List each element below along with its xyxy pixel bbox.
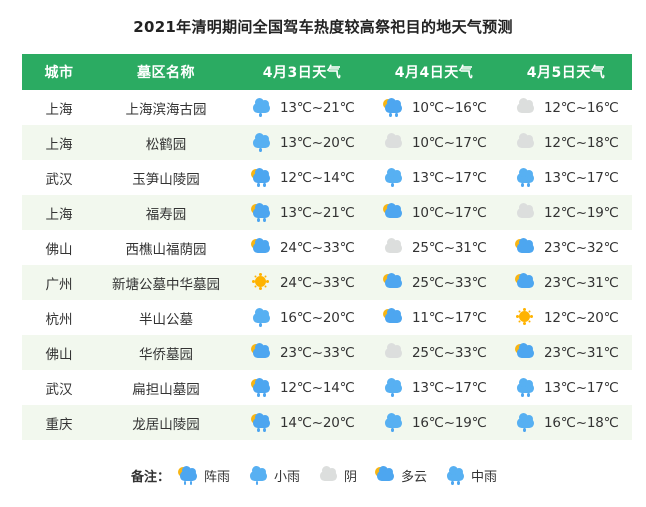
apr4-weather-temperature: 10℃~16℃ (412, 100, 487, 116)
apr4-weather-temperature: 13℃~17℃ (412, 380, 487, 396)
legend-item-label: 中雨 (471, 466, 497, 485)
cell-cemetery-name: 新塘公墓中华墓园 (96, 265, 236, 300)
cell-city: 广州 (22, 265, 96, 300)
apr5-weather-temperature: 13℃~17℃ (544, 380, 619, 396)
table-row: 上海松鹤园13℃~20℃10℃~17℃12℃~18℃ (22, 125, 632, 160)
overcast-icon (515, 99, 537, 117)
apr3-weather-content: 24℃~33℃ (237, 274, 367, 292)
apr4-weather-cell: 13℃~17℃ (368, 370, 500, 405)
overcast-icon (383, 134, 405, 152)
shower-icon (251, 169, 273, 187)
apr4-weather-content: 11℃~17℃ (369, 309, 499, 327)
apr3-weather-content: 16℃~20℃ (237, 309, 367, 327)
apr4-weather-cell: 16℃~19℃ (368, 405, 500, 440)
apr3-weather-cell: 12℃~14℃ (236, 160, 368, 195)
column-header-apr4: 4月4日天气 (368, 54, 500, 90)
legend-item: 阴 (318, 466, 357, 485)
apr5-weather-temperature: 12℃~16℃ (544, 100, 619, 116)
apr5-weather-content: 23℃~31℃ (501, 344, 631, 362)
shower-icon (251, 379, 273, 397)
apr5-weather-temperature: 23℃~31℃ (544, 345, 619, 361)
cell-city: 上海 (22, 90, 96, 125)
light-rain-icon (515, 414, 537, 432)
apr3-weather-content: 13℃~20℃ (237, 134, 367, 152)
apr4-weather-cell: 25℃~33℃ (368, 335, 500, 370)
cell-cemetery-name: 福寿园 (96, 195, 236, 230)
column-header-cemetery: 墓区名称 (96, 54, 236, 90)
table-row: 武汉扁担山墓园12℃~14℃13℃~17℃13℃~17℃ (22, 370, 632, 405)
table-row: 杭州半山公墓16℃~20℃11℃~17℃12℃~20℃ (22, 300, 632, 335)
apr5-weather-temperature: 12℃~20℃ (544, 310, 619, 326)
apr3-weather-temperature: 24℃~33℃ (280, 240, 355, 256)
apr4-weather-content: 10℃~17℃ (369, 134, 499, 152)
cloudy-icon (383, 204, 405, 222)
cloudy-icon (375, 467, 397, 485)
cell-cemetery-name: 松鹤园 (96, 125, 236, 160)
apr5-weather-content: 13℃~17℃ (501, 379, 631, 397)
apr5-weather-cell: 23℃~32℃ (500, 230, 632, 265)
apr3-weather-cell: 14℃~20℃ (236, 405, 368, 440)
apr5-weather-cell: 12℃~16℃ (500, 90, 632, 125)
cell-cemetery-name: 扁担山墓园 (96, 370, 236, 405)
cell-city: 武汉 (22, 160, 96, 195)
apr4-weather-temperature: 25℃~33℃ (412, 275, 487, 291)
apr4-weather-temperature: 13℃~17℃ (412, 170, 487, 186)
apr3-weather-cell: 12℃~14℃ (236, 370, 368, 405)
legend-item-label: 阵雨 (204, 466, 230, 485)
table-body: 上海上海滨海古园13℃~21℃10℃~16℃12℃~16℃上海松鹤园13℃~20… (22, 90, 632, 440)
apr4-weather-content: 10℃~17℃ (369, 204, 499, 222)
shower-icon (251, 414, 273, 432)
apr3-weather-cell: 23℃~33℃ (236, 335, 368, 370)
light-rain-icon (248, 467, 270, 485)
apr4-weather-content: 25℃~33℃ (369, 344, 499, 362)
cloudy-icon (383, 274, 405, 292)
legend: 备注： 阵雨小雨阴多云中雨 (0, 466, 646, 485)
apr5-weather-cell: 23℃~31℃ (500, 265, 632, 300)
table-row: 武汉玉笋山陵园12℃~14℃13℃~17℃13℃~17℃ (22, 160, 632, 195)
apr5-weather-temperature: 12℃~19℃ (544, 205, 619, 221)
apr3-weather-temperature: 14℃~20℃ (280, 415, 355, 431)
apr4-weather-temperature: 10℃~17℃ (412, 135, 487, 151)
apr4-weather-content: 25℃~33℃ (369, 274, 499, 292)
legend-item: 中雨 (445, 466, 497, 485)
legend-item-label: 阴 (344, 466, 357, 485)
apr3-weather-content: 23℃~33℃ (237, 344, 367, 362)
overcast-icon (318, 467, 340, 485)
apr5-weather-content: 12℃~20℃ (501, 309, 631, 327)
cell-city: 上海 (22, 195, 96, 230)
moderate-rain-icon (445, 467, 467, 485)
apr4-weather-temperature: 11℃~17℃ (412, 310, 487, 326)
apr5-weather-cell: 12℃~20℃ (500, 300, 632, 335)
cell-cemetery-name: 西樵山福荫园 (96, 230, 236, 265)
apr3-weather-cell: 16℃~20℃ (236, 300, 368, 335)
apr5-weather-content: 12℃~16℃ (501, 99, 631, 117)
table-row: 广州新塘公墓中华墓园24℃~33℃25℃~33℃23℃~31℃ (22, 265, 632, 300)
apr5-weather-cell: 12℃~18℃ (500, 125, 632, 160)
apr5-weather-content: 13℃~17℃ (501, 169, 631, 187)
table-header-row: 城市 墓区名称 4月3日天气 4月4日天气 4月5日天气 (22, 54, 632, 90)
apr3-weather-temperature: 12℃~14℃ (280, 170, 355, 186)
apr5-weather-temperature: 23℃~31℃ (544, 275, 619, 291)
apr3-weather-content: 12℃~14℃ (237, 379, 367, 397)
shower-icon (251, 204, 273, 222)
cloudy-icon (383, 309, 405, 327)
apr4-weather-content: 10℃~16℃ (369, 99, 499, 117)
cell-city: 武汉 (22, 370, 96, 405)
apr3-weather-temperature: 24℃~33℃ (280, 275, 355, 291)
legend-item: 小雨 (248, 466, 300, 485)
apr4-weather-temperature: 16℃~19℃ (412, 415, 487, 431)
column-header-apr3: 4月3日天气 (236, 54, 368, 90)
table-row: 佛山西樵山福荫园24℃~33℃25℃~31℃23℃~32℃ (22, 230, 632, 265)
cell-city: 上海 (22, 125, 96, 160)
apr4-weather-cell: 13℃~17℃ (368, 160, 500, 195)
legend-item-label: 小雨 (274, 466, 300, 485)
table-header: 城市 墓区名称 4月3日天气 4月4日天气 4月5日天气 (22, 54, 632, 90)
overcast-icon (515, 134, 537, 152)
apr3-weather-cell: 24℃~33℃ (236, 230, 368, 265)
light-rain-icon (251, 134, 273, 152)
apr5-weather-content: 16℃~18℃ (501, 414, 631, 432)
page-title: 2021年清明期间全国驾车热度较高祭祀目的地天气预测 (0, 0, 646, 37)
apr3-weather-temperature: 13℃~20℃ (280, 135, 355, 151)
overcast-icon (383, 239, 405, 257)
apr5-weather-temperature: 13℃~17℃ (544, 170, 619, 186)
cloudy-icon (515, 274, 537, 292)
legend-item-label: 多云 (401, 466, 427, 485)
apr3-weather-content: 14℃~20℃ (237, 414, 367, 432)
apr4-weather-content: 25℃~31℃ (369, 239, 499, 257)
apr3-weather-cell: 24℃~33℃ (236, 265, 368, 300)
apr5-weather-temperature: 12℃~18℃ (544, 135, 619, 151)
apr5-weather-cell: 16℃~18℃ (500, 405, 632, 440)
apr4-weather-cell: 10℃~16℃ (368, 90, 500, 125)
apr3-weather-temperature: 23℃~33℃ (280, 345, 355, 361)
apr3-weather-temperature: 12℃~14℃ (280, 380, 355, 396)
light-rain-icon (383, 169, 405, 187)
forecast-table: 城市 墓区名称 4月3日天气 4月4日天气 4月5日天气 上海上海滨海古园13℃… (22, 54, 632, 440)
apr3-weather-cell: 13℃~21℃ (236, 195, 368, 230)
cell-cemetery-name: 龙居山陵园 (96, 405, 236, 440)
apr3-weather-content: 24℃~33℃ (237, 239, 367, 257)
legend-label: 备注： (131, 466, 170, 485)
column-header-city: 城市 (22, 54, 96, 90)
cell-city: 佛山 (22, 335, 96, 370)
apr4-weather-cell: 25℃~31℃ (368, 230, 500, 265)
apr4-weather-content: 13℃~17℃ (369, 379, 499, 397)
apr3-weather-temperature: 16℃~20℃ (280, 310, 355, 326)
apr5-weather-temperature: 23℃~32℃ (544, 240, 619, 256)
weather-forecast-page: 2021年清明期间全国驾车热度较高祭祀目的地天气预测 城市 墓区名称 4月3日天… (0, 0, 646, 507)
forecast-table-wrapper: 城市 墓区名称 4月3日天气 4月4日天气 4月5日天气 上海上海滨海古园13℃… (22, 54, 624, 440)
apr3-weather-temperature: 13℃~21℃ (280, 100, 355, 116)
apr3-weather-content: 13℃~21℃ (237, 99, 367, 117)
apr5-weather-cell: 13℃~17℃ (500, 370, 632, 405)
shower-icon (383, 99, 405, 117)
cloudy-icon (251, 344, 273, 362)
shower-icon (178, 467, 200, 485)
apr4-weather-temperature: 25℃~33℃ (412, 345, 487, 361)
apr4-weather-content: 13℃~17℃ (369, 169, 499, 187)
apr3-weather-cell: 13℃~20℃ (236, 125, 368, 160)
apr4-weather-cell: 25℃~33℃ (368, 265, 500, 300)
apr5-weather-content: 23℃~31℃ (501, 274, 631, 292)
apr4-weather-cell: 10℃~17℃ (368, 125, 500, 160)
cell-cemetery-name: 半山公墓 (96, 300, 236, 335)
cell-cemetery-name: 上海滨海古园 (96, 90, 236, 125)
table-row: 上海上海滨海古园13℃~21℃10℃~16℃12℃~16℃ (22, 90, 632, 125)
cell-city: 重庆 (22, 405, 96, 440)
cell-cemetery-name: 玉笋山陵园 (96, 160, 236, 195)
sunny-icon (251, 274, 273, 292)
legend-item: 多云 (375, 466, 427, 485)
moderate-rain-icon (515, 379, 537, 397)
light-rain-icon (383, 414, 405, 432)
light-rain-icon (383, 379, 405, 397)
cloudy-icon (251, 239, 273, 257)
apr5-weather-temperature: 16℃~18℃ (544, 415, 619, 431)
overcast-icon (383, 344, 405, 362)
overcast-icon (515, 204, 537, 222)
apr4-weather-content: 16℃~19℃ (369, 414, 499, 432)
moderate-rain-icon (515, 169, 537, 187)
cloudy-icon (515, 344, 537, 362)
apr4-weather-temperature: 25℃~31℃ (412, 240, 487, 256)
cell-cemetery-name: 华侨墓园 (96, 335, 236, 370)
apr3-weather-cell: 13℃~21℃ (236, 90, 368, 125)
apr5-weather-cell: 12℃~19℃ (500, 195, 632, 230)
apr4-weather-cell: 10℃~17℃ (368, 195, 500, 230)
apr3-weather-content: 13℃~21℃ (237, 204, 367, 222)
apr5-weather-cell: 23℃~31℃ (500, 335, 632, 370)
table-row: 上海福寿园13℃~21℃10℃~17℃12℃~19℃ (22, 195, 632, 230)
sunny-icon (515, 309, 537, 327)
apr5-weather-content: 12℃~18℃ (501, 134, 631, 152)
light-rain-icon (251, 99, 273, 117)
table-row: 重庆龙居山陵园14℃~20℃16℃~19℃16℃~18℃ (22, 405, 632, 440)
legend-item: 阵雨 (178, 466, 230, 485)
cell-city: 佛山 (22, 230, 96, 265)
apr5-weather-cell: 13℃~17℃ (500, 160, 632, 195)
apr4-weather-temperature: 10℃~17℃ (412, 205, 487, 221)
light-rain-icon (251, 309, 273, 327)
cloudy-icon (515, 239, 537, 257)
apr4-weather-cell: 11℃~17℃ (368, 300, 500, 335)
apr5-weather-content: 12℃~19℃ (501, 204, 631, 222)
apr3-weather-temperature: 13℃~21℃ (280, 205, 355, 221)
apr3-weather-content: 12℃~14℃ (237, 169, 367, 187)
cell-city: 杭州 (22, 300, 96, 335)
apr5-weather-content: 23℃~32℃ (501, 239, 631, 257)
column-header-apr5: 4月5日天气 (500, 54, 632, 90)
table-row: 佛山华侨墓园23℃~33℃25℃~33℃23℃~31℃ (22, 335, 632, 370)
